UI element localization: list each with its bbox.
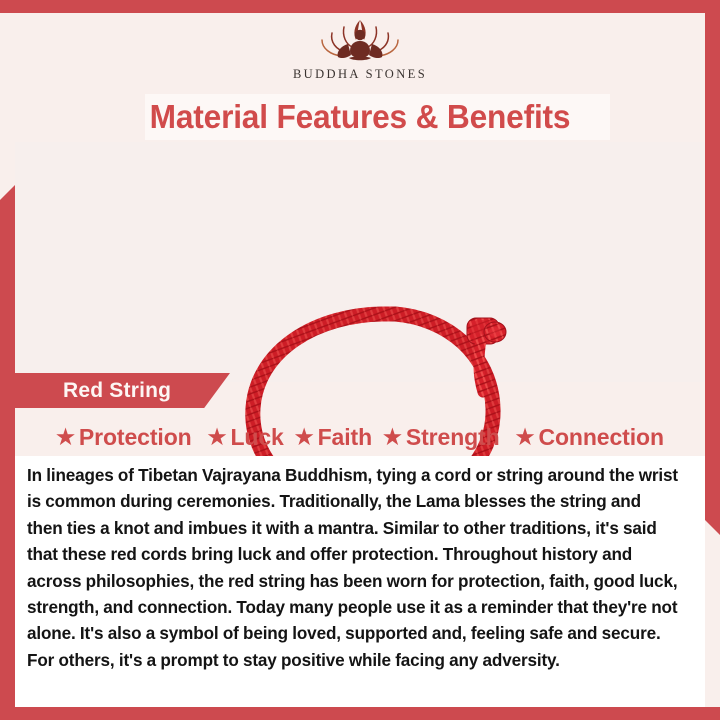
product-name-ribbon: Red String bbox=[15, 373, 230, 408]
benefits-row: ★ Protection ★ Luck ★ Faith ★ Strength ★… bbox=[15, 418, 705, 456]
benefit-label: Strength bbox=[406, 424, 500, 451]
benefit-label: Luck bbox=[230, 424, 283, 451]
description-panel: In lineages of Tibetan Vajrayana Buddhis… bbox=[15, 456, 705, 707]
star-icon: ★ bbox=[516, 427, 535, 448]
infographic-page: BUDDHA STONES Material Features & Benefi… bbox=[0, 0, 720, 720]
benefit-label: Protection bbox=[79, 424, 192, 451]
page-title: Material Features & Benefits bbox=[14, 92, 705, 142]
benefit-item-luck: ★ Luck bbox=[208, 424, 284, 451]
hero-panel bbox=[15, 142, 705, 382]
star-icon: ★ bbox=[295, 427, 314, 448]
brand-name: BUDDHA STONES bbox=[293, 67, 427, 82]
frame-band-bottom bbox=[0, 707, 720, 720]
star-icon: ★ bbox=[383, 427, 402, 448]
benefit-item-connection: ★ Connection bbox=[516, 424, 664, 451]
frame-band-top bbox=[0, 0, 720, 13]
benefit-item-strength: ★ Strength bbox=[383, 424, 500, 451]
star-icon: ★ bbox=[208, 427, 227, 448]
star-icon: ★ bbox=[56, 427, 75, 448]
description-paragraph: In lineages of Tibetan Vajrayana Buddhis… bbox=[27, 462, 679, 673]
benefit-label: Faith bbox=[318, 424, 372, 451]
frame-band-left bbox=[0, 185, 15, 720]
benefit-item-faith: ★ Faith bbox=[295, 424, 372, 451]
benefit-item-protection: ★ Protection bbox=[56, 424, 192, 451]
lotus-meditation-icon bbox=[308, 14, 412, 66]
brand-logo: BUDDHA STONES bbox=[0, 14, 720, 94]
product-name-label: Red String bbox=[63, 379, 171, 403]
benefit-label: Connection bbox=[538, 424, 664, 451]
